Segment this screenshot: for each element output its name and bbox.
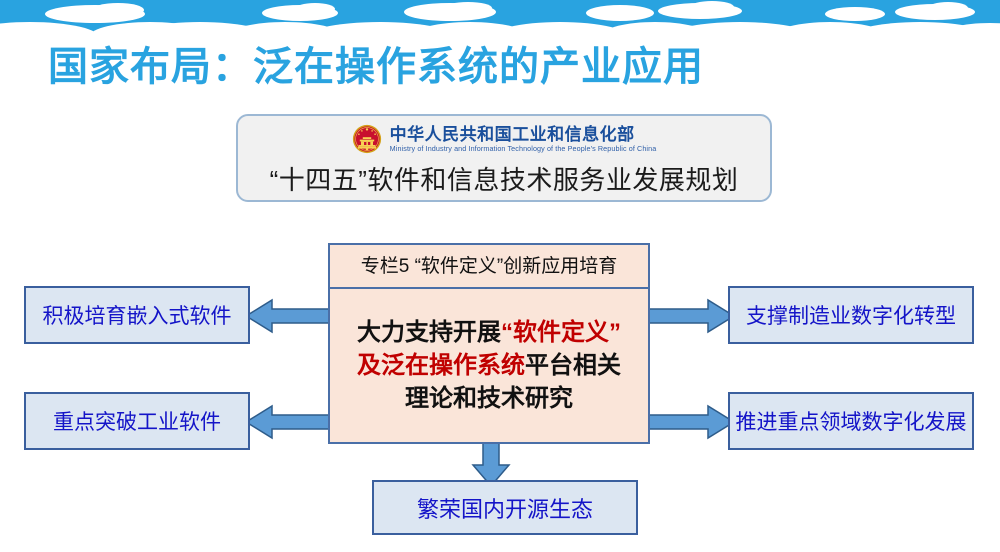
arrow-left-pointing	[246, 404, 334, 440]
china-national-emblem-icon	[352, 124, 382, 154]
body-seg-black-1: 大力支持开展	[357, 319, 501, 346]
center-highlight-box: 专栏5 “软件定义”创新应用培育 大力支持开展“软件定义” 及泛在操作系统平台相…	[328, 243, 650, 444]
box-bottom[interactable]: 繁荣国内开源生态	[372, 480, 638, 535]
box-left-bottom[interactable]: 重点突破工业软件	[24, 392, 250, 450]
miit-identity-row: 中华人民共和国工业和信息化部 Ministry of Industry and …	[238, 122, 770, 156]
miit-name-block: 中华人民共和国工业和信息化部 Ministry of Industry and …	[390, 125, 657, 154]
center-box-body: 大力支持开展“软件定义” 及泛在操作系统平台相关 理论和技术研究	[330, 289, 648, 442]
center-box-body-text: 大力支持开展“软件定义” 及泛在操作系统平台相关 理论和技术研究	[357, 316, 621, 415]
body-seg-red-2: 及泛在操作系统	[357, 352, 525, 379]
box-right-bottom[interactable]: 推进重点领域数字化发展	[728, 392, 974, 450]
ministry-name-en: Ministry of Industry and Information Tec…	[390, 144, 657, 154]
arrow-right-pointing	[646, 298, 734, 334]
page-title: 国家布局：泛在操作系统的产业应用	[48, 34, 704, 92]
body-seg-red-1: “软件定义”	[501, 319, 621, 346]
miit-plan-banner: 中华人民共和国工业和信息化部 Ministry of Industry and …	[236, 114, 772, 202]
center-box-header: 专栏5 “软件定义”创新应用培育	[330, 245, 648, 289]
arrow-down-pointing	[471, 438, 511, 486]
arrow-right-pointing	[646, 404, 734, 440]
arrow-left-pointing	[246, 298, 334, 334]
body-seg-black-2: 平台相关	[525, 352, 621, 379]
box-right-top[interactable]: 支撑制造业数字化转型	[728, 286, 974, 344]
plan-title: “十四五”软件和信息技术服务业发展规划	[238, 160, 770, 197]
body-seg-black-3: 理论和技术研究	[405, 385, 573, 412]
ministry-name-cn: 中华人民共和国工业和信息化部	[390, 125, 657, 144]
box-left-top[interactable]: 积极培育嵌入式软件	[24, 286, 250, 344]
